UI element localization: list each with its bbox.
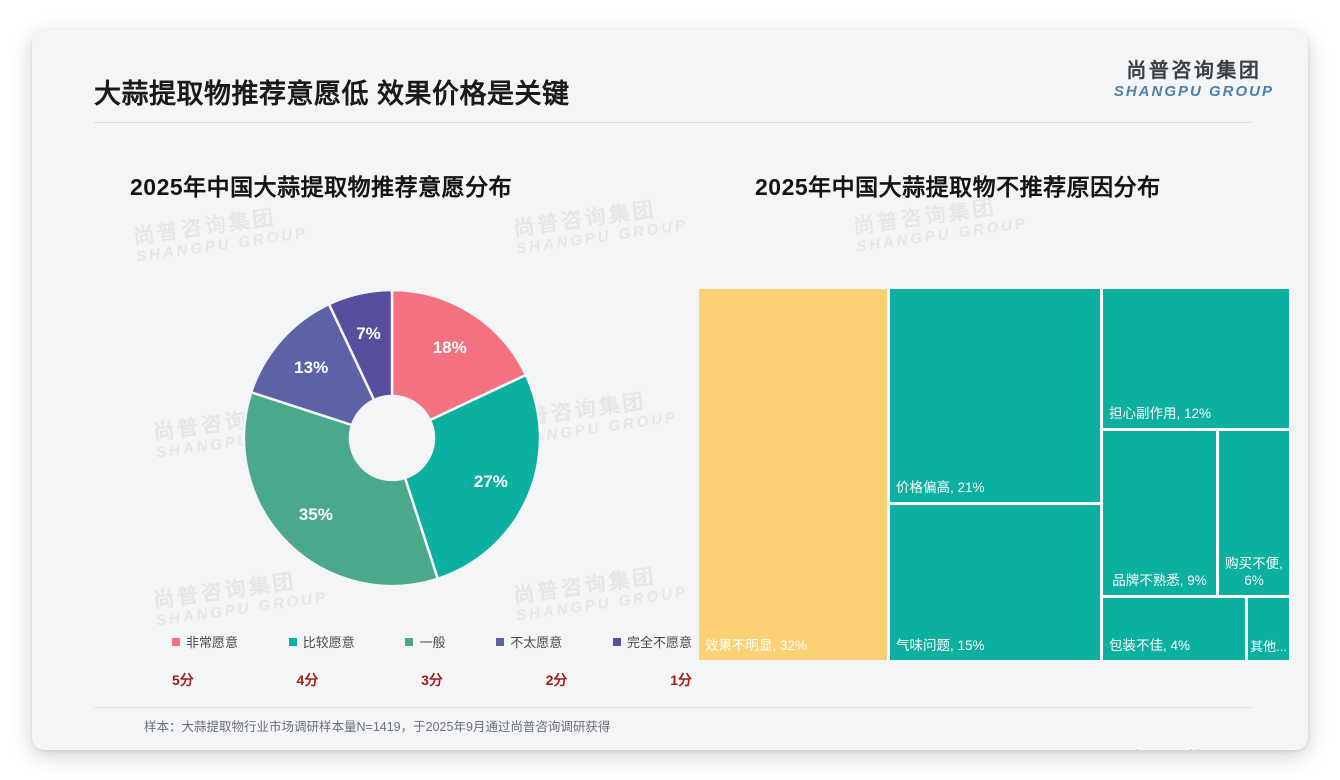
legend-swatch-icon	[613, 638, 621, 646]
treemap-cell[interactable]: 效果不明显, 32%	[699, 289, 887, 660]
watermark: 尚普咨询集团 SHANGPU GROUP	[512, 194, 689, 258]
donut-legend: 非常愿意比较愿意一般不太愿意完全不愿意	[172, 632, 692, 651]
legend-item[interactable]: 不太愿意	[496, 632, 562, 651]
header-divider	[94, 122, 1252, 123]
donut-slice-label: 27%	[474, 472, 508, 491]
treemap-cell-label: 购买不便, 6%	[1221, 556, 1287, 590]
legend-swatch-icon	[289, 638, 297, 646]
footer-copyright: ©2025.11 SHANGPU GROUP	[98, 748, 273, 750]
donut-slice-label: 13%	[294, 358, 328, 377]
donut-slice-label: 35%	[299, 505, 333, 524]
watermark-en: SHANGPU GROUP	[855, 215, 1029, 256]
legend-item[interactable]: 非常愿意	[172, 632, 238, 651]
score-label: 3分	[421, 670, 443, 690]
legend-swatch-icon	[172, 638, 180, 646]
treemap-cell[interactable]: 价格偏高, 21%	[890, 289, 1100, 502]
treemap-cell-label: 气味问题, 15%	[896, 638, 1096, 655]
donut-chart: 18%27%35%13%7%	[212, 258, 572, 618]
score-label: 4分	[297, 670, 319, 690]
legend-label: 完全不愿意	[627, 632, 692, 651]
donut-hole	[350, 396, 434, 480]
sample-footnote: 样本：大蒜提取物行业市场调研样本量N=1419，于2025年9月通过尚普咨询调研…	[144, 716, 610, 735]
slide-canvas: 尚普咨询集团 SHANGPU GROUP 尚普咨询集团 SHANGPU GROU…	[0, 0, 1340, 780]
treemap-cell[interactable]: 其他...	[1248, 598, 1289, 660]
treemap-cell-label: 价格偏高, 21%	[896, 480, 1096, 497]
legend-label: 不太愿意	[510, 632, 562, 651]
treemap-cell[interactable]: 品牌不熟悉, 9%	[1103, 431, 1216, 595]
treemap-cell-label: 品牌不熟悉, 9%	[1105, 573, 1214, 590]
legend-label: 非常愿意	[186, 632, 238, 651]
treemap-cell[interactable]: 气味问题, 15%	[890, 505, 1100, 660]
score-scale-row: 5分4分3分2分1分	[172, 670, 692, 690]
treemap-cell-label: 包装不佳, 4%	[1109, 638, 1241, 655]
treemap-chart: 效果不明显, 32%价格偏高, 21%气味问题, 15%担心副作用, 12%品牌…	[699, 289, 1289, 660]
legend-swatch-icon	[405, 638, 413, 646]
treemap-cell[interactable]: 担心副作用, 12%	[1103, 289, 1289, 428]
watermark-cn: 尚普咨询集团	[512, 194, 687, 241]
donut-slice-label: 7%	[356, 324, 381, 343]
donut-slice-label: 18%	[433, 338, 467, 357]
watermark-en: SHANGPU GROUP	[515, 217, 689, 258]
chart-title-donut: 2025年中国大蒜提取物推荐意愿分布	[130, 168, 512, 202]
legend-label: 一般	[419, 632, 445, 651]
footnote-divider	[94, 707, 1252, 708]
legend-item[interactable]: 完全不愿意	[613, 632, 692, 651]
report-card: 尚普咨询集团 SHANGPU GROUP 尚普咨询集团 SHANGPU GROU…	[32, 30, 1308, 750]
score-label: 5分	[172, 670, 194, 690]
watermark: 尚普咨询集团 SHANGPU GROUP	[132, 202, 309, 266]
treemap-cell-label: 担心副作用, 12%	[1109, 406, 1285, 423]
logo-text-cn: 尚普咨询集团	[1114, 60, 1274, 83]
legend-item[interactable]: 一般	[405, 632, 445, 651]
company-logo: 尚普咨询集团 SHANGPU GROUP	[1114, 60, 1274, 101]
logo-text-en: SHANGPU GROUP	[1114, 83, 1274, 101]
legend-label: 比较愿意	[303, 632, 355, 651]
watermark-cn: 尚普咨询集团	[132, 202, 307, 249]
treemap-cell-label: 效果不明显, 32%	[705, 638, 883, 655]
legend-item[interactable]: 比较愿意	[289, 632, 355, 651]
legend-swatch-icon	[496, 638, 504, 646]
treemap-cell[interactable]: 包装不佳, 4%	[1103, 598, 1245, 660]
treemap-cell[interactable]: 购买不便, 6%	[1219, 431, 1289, 595]
page-title: 大蒜提取物推荐意愿低 效果价格是关键	[94, 72, 570, 111]
footer-website[interactable]: www.shangpu-china.com	[1099, 748, 1242, 750]
chart-title-treemap: 2025年中国大蒜提取物不推荐原因分布	[755, 168, 1161, 202]
donut-svg: 18%27%35%13%7%	[212, 258, 572, 618]
score-label: 2分	[546, 670, 568, 690]
score-label: 1分	[670, 670, 692, 690]
treemap-cell-label: 其他...	[1250, 640, 1287, 655]
